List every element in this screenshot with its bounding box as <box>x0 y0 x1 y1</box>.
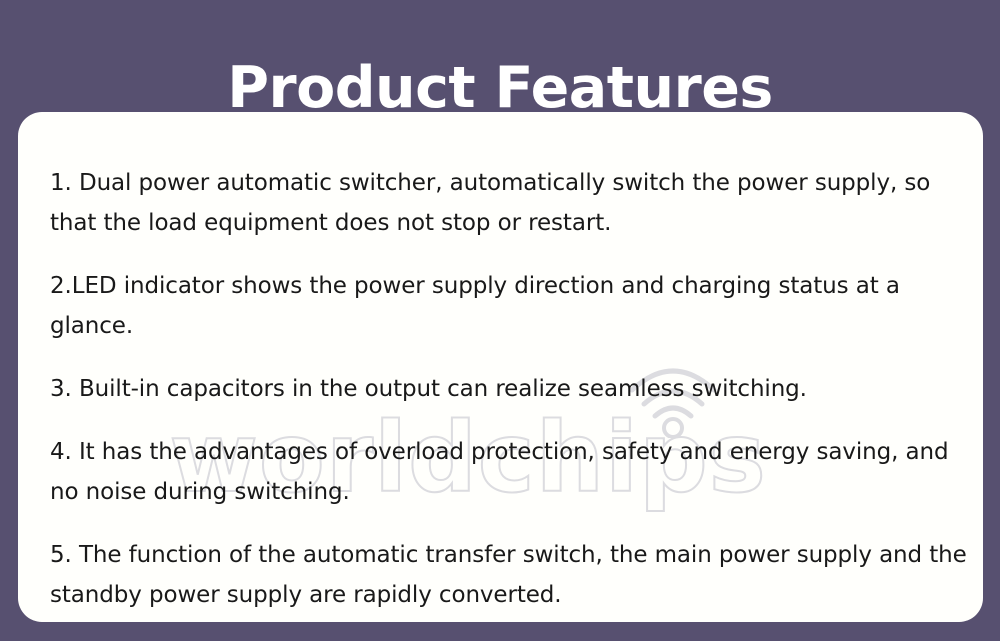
feature-item: 2.LED indicator shows the power supply d… <box>50 266 970 346</box>
feature-item: 3. Built-in capacitors in the output can… <box>50 369 970 409</box>
features-card: worldchips 1. Dual power automatic switc… <box>18 112 983 622</box>
product-features-page: Product Features worldchips 1. Dual powe… <box>0 0 1000 641</box>
feature-item: 1. Dual power automatic switcher, automa… <box>50 163 970 243</box>
features-list: 1. Dual power automatic switcher, automa… <box>50 140 970 622</box>
feature-item: 4. It has the advantages of overload pro… <box>50 432 970 512</box>
feature-item: 5. The function of the automatic transfe… <box>50 535 970 615</box>
